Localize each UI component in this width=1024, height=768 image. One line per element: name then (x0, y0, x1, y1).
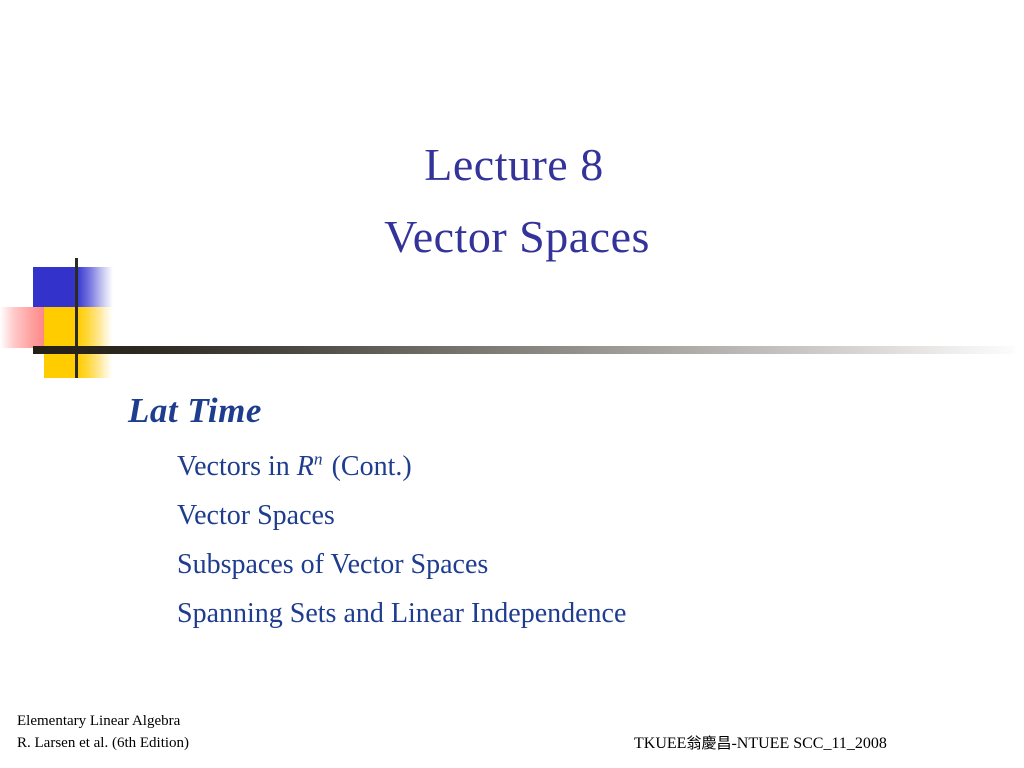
section-heading: Lat Time (128, 391, 262, 431)
list-item-text-prefix: Vectors in (177, 451, 297, 482)
vertical-rule-decoration (75, 258, 78, 378)
list-item: Vectors in Rn(Cont.) (177, 453, 977, 481)
blue-square-decoration (33, 267, 113, 308)
footer-course-credit: TKUEE翁慶昌-NTUEE SCC_11_2008 (634, 732, 887, 753)
horizontal-rule-decoration (33, 346, 1015, 354)
list-item: Vector Spaces (177, 502, 977, 530)
list-item-text-suffix: (Cont.) (332, 451, 412, 482)
footer-source-credit: Elementary Linear Algebra R. Larsen et a… (17, 711, 189, 755)
title-line-2: Vector Spaces (10, 212, 1024, 262)
footer-course-prefix: TKUEE (634, 735, 686, 752)
footer-book-title: Elementary Linear Algebra (17, 711, 189, 733)
slide-title: Lecture 8 Vector Spaces (0, 140, 1024, 261)
yellow-square-decoration (44, 307, 113, 378)
footer-book-edition: R. Larsen et al. (6th Edition) (17, 733, 189, 755)
list-item-superscript: n (314, 450, 323, 469)
list-item: Spanning Sets and Linear Independence (177, 600, 977, 628)
topic-list: Vectors in Rn(Cont.) Vector Spaces Subsp… (177, 453, 977, 649)
list-item-math-variable: R (297, 451, 314, 482)
footer-course-suffix: -NTUEE SCC_11_2008 (731, 735, 886, 752)
title-line-1: Lecture 8 (4, 140, 1024, 190)
list-item: Subspaces of Vector Spaces (177, 551, 977, 579)
footer-author-name-cjk: 翁慶昌 (686, 734, 731, 752)
slide-canvas: Lecture 8 Vector Spaces Lat Time Vectors… (0, 0, 1024, 768)
